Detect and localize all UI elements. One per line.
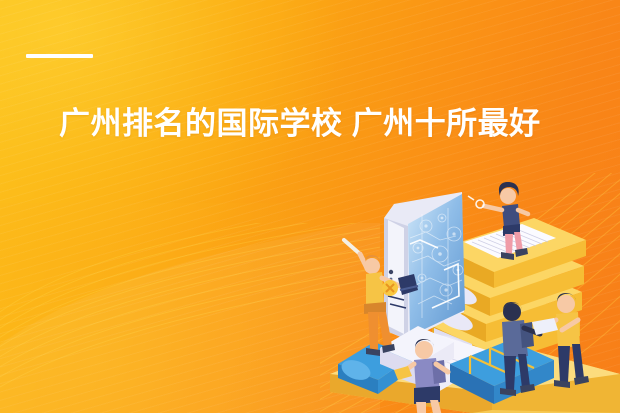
accent-rule (26, 54, 93, 58)
badge-icon (382, 280, 398, 296)
illustration-education-scene (322, 178, 620, 413)
page-title: 广州排名的国际学校 广州十所最好 (59, 104, 559, 144)
promo-banner: 广州排名的国际学校 广州十所最好 (0, 0, 620, 413)
